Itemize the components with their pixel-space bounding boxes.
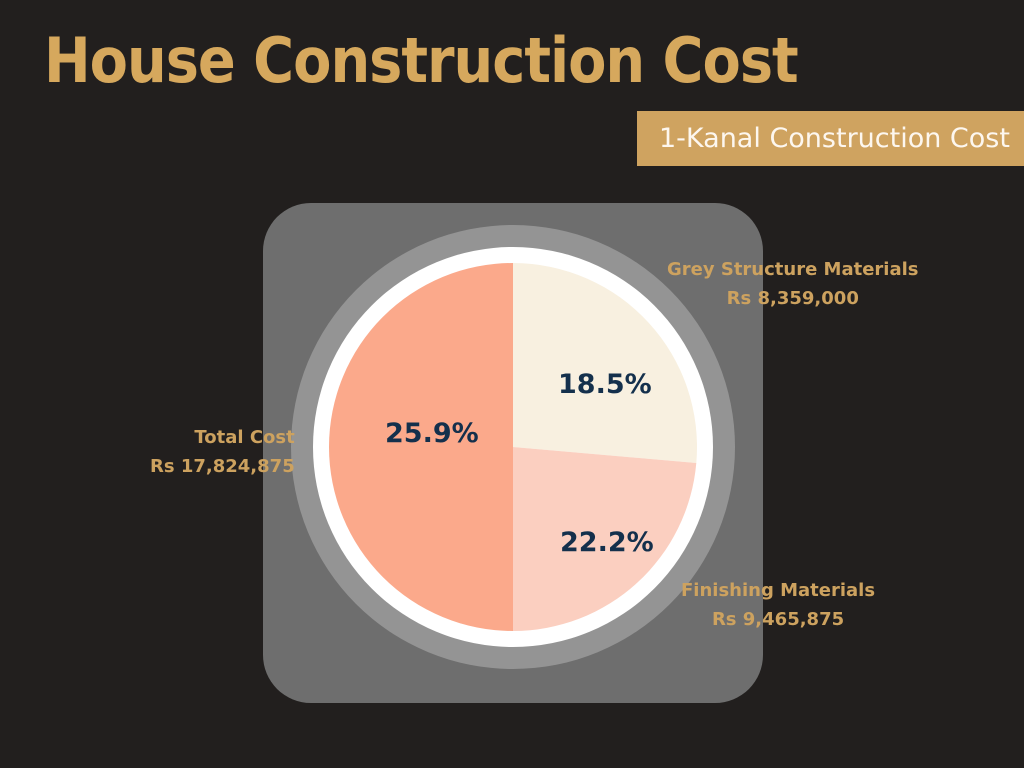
callout-total-cost-value: Rs 17,824,875 <box>150 452 295 481</box>
page-title: House Construction Cost <box>44 28 798 93</box>
pie-percent-label-grey-structure: 18.5% <box>558 369 652 400</box>
callout-total-cost-name: Total Cost <box>150 423 295 452</box>
subtitle-banner-text: 1-Kanal Construction Cost <box>659 123 1010 154</box>
callout-grey-structure-value: Rs 8,359,000 <box>667 284 919 313</box>
pie-percent-label-finishing: 22.2% <box>560 527 654 558</box>
callout-grey-structure-name: Grey Structure Materials <box>667 255 919 284</box>
callout-finishing-value: Rs 9,465,875 <box>681 605 875 634</box>
callout-total-cost: Total Cost Rs 17,824,875 <box>150 423 295 481</box>
callout-finishing-name: Finishing Materials <box>681 576 875 605</box>
callout-grey-structure-materials: Grey Structure Materials Rs 8,359,000 <box>667 255 919 313</box>
pie-percent-label-total-cost: 25.9% <box>385 418 479 449</box>
callout-finishing-materials: Finishing Materials Rs 9,465,875 <box>681 576 875 634</box>
subtitle-banner: 1-Kanal Construction Cost <box>637 111 1024 166</box>
